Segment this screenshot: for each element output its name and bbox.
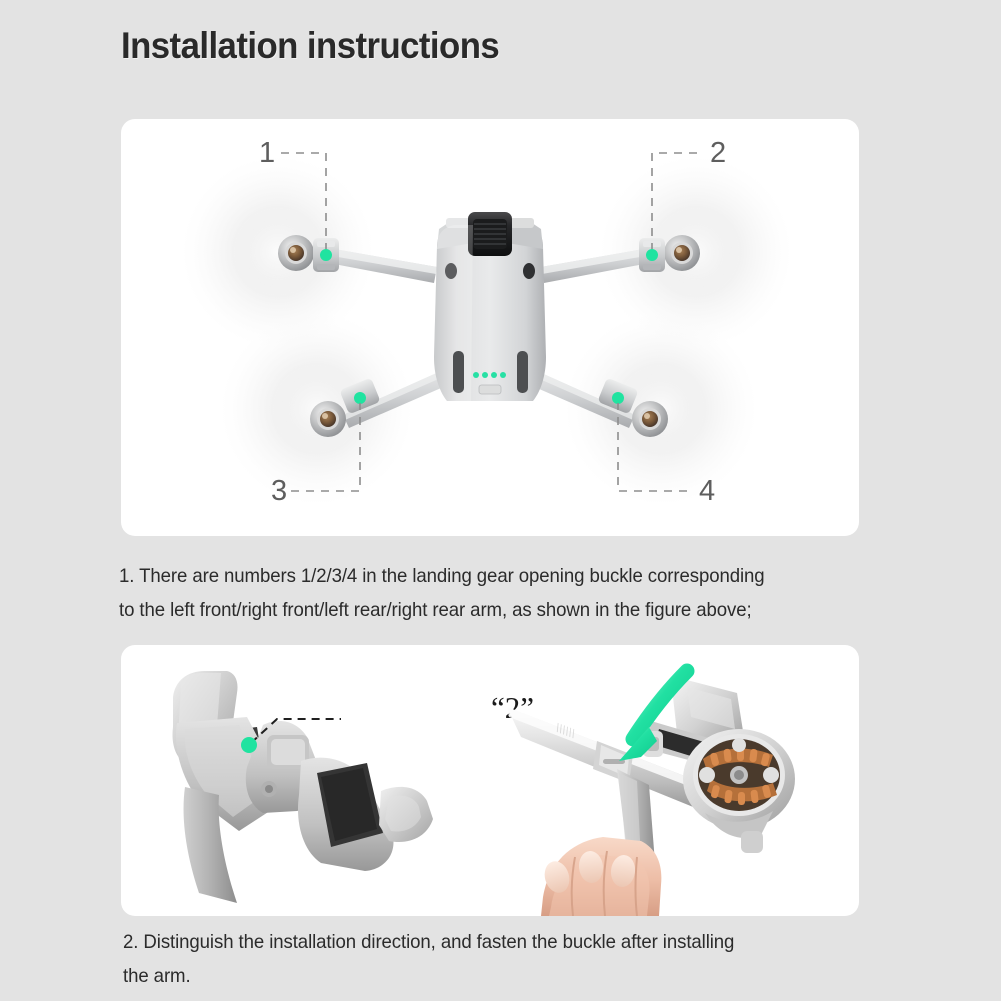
motor-rear-left	[310, 401, 346, 437]
caption-step-two: 2. Distinguish the installation directio…	[123, 925, 734, 993]
motor-front-left	[278, 235, 314, 271]
callout-number-1: 1	[259, 139, 275, 168]
hand	[541, 837, 661, 916]
callout-number-3: 3	[271, 477, 287, 506]
caption-step-one: 1. There are numbers 1/2/3/4 in the land…	[119, 559, 765, 627]
green-marker-2	[646, 249, 658, 261]
caption-two-line-2: the arm.	[123, 959, 734, 993]
landing-gear-buckle-photo	[151, 655, 481, 910]
drone-top-view-diagram	[121, 119, 859, 536]
caption-one-line-2: to the left front/right front/left rear/…	[119, 593, 765, 627]
green-marker-4	[612, 392, 624, 404]
motor-rear-right	[632, 401, 668, 437]
caption-two-line-1: 2. Distinguish the installation directio…	[123, 925, 734, 959]
figure-card-buckle-photos: “2”	[121, 645, 859, 916]
callout-number-4: 4	[699, 477, 715, 506]
gimbal-camera	[468, 212, 512, 256]
callout-number-2: 2	[710, 139, 726, 168]
caption-one-line-1: 1. There are numbers 1/2/3/4 in the land…	[119, 559, 765, 593]
motor-front-right	[664, 235, 700, 271]
arm-fastening-photo: \\\\\\	[491, 645, 859, 916]
motor-with-windings	[683, 729, 795, 853]
drone-body	[434, 212, 546, 401]
green-marker-label-2	[241, 737, 257, 753]
green-marker-3	[354, 392, 366, 404]
green-marker-1	[320, 249, 332, 261]
page-title: Installation instructions	[121, 25, 499, 67]
figure-card-drone-diagram: 1 2 3 4	[121, 119, 859, 536]
